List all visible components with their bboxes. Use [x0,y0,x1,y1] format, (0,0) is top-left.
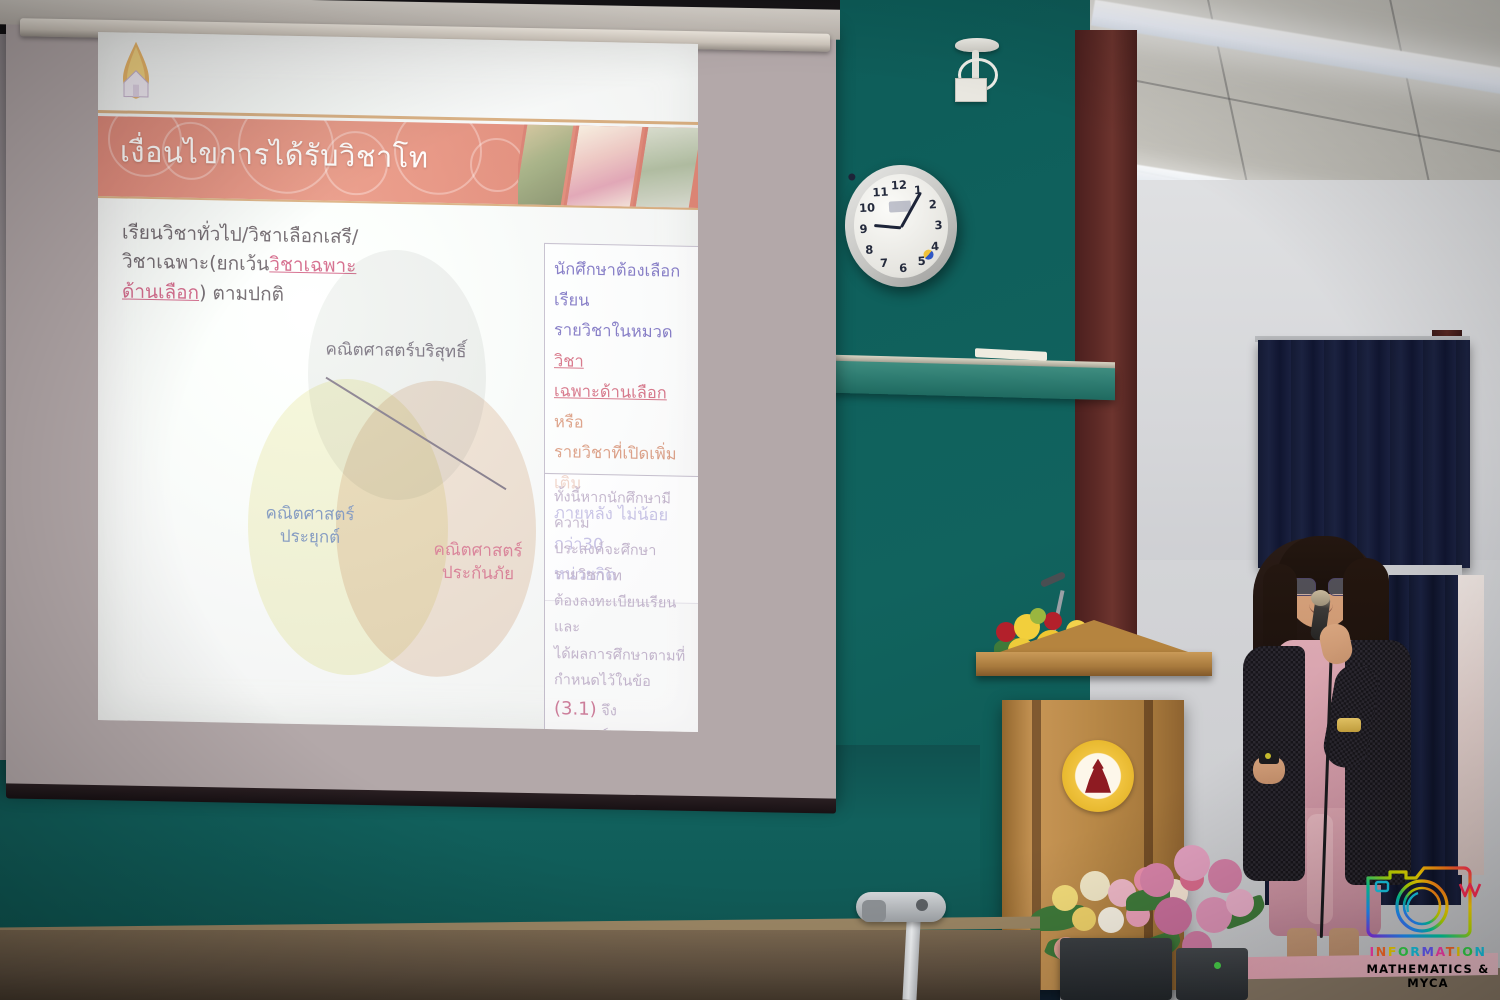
clock-center-pin [848,173,855,180]
podium-roof [994,620,1194,654]
clock-num-7: 7 [876,256,893,271]
microphone-head [1311,590,1330,606]
university-emblem [1062,740,1134,812]
venn-label-right-l2: ประกันภัย [408,561,548,587]
projector-lens-icon [862,900,886,922]
photo-watermark: INFORMATION MATHEMATICS & MYCA [1358,852,1498,1000]
para-line1: เรียนวิชาทั่วไป/วิชาเลือกเสรี/ [122,221,358,248]
podium-shelf [976,652,1212,676]
venn-label-top: คณิตศาสตร์บริสุทธิ์ [286,338,506,365]
venn-label-left: คณิตศาสตร์ ประยุกต์ [240,502,380,551]
note2-l5b: จึง [601,703,617,719]
av-equipment-case [1060,938,1172,1000]
camera-outline-rainbow-icon [1364,856,1492,942]
wall-junction-box [955,78,987,102]
slide-note-box-2: ทั้งนี้หากนักศึกษามีความ ประสงค์จะศึกษาร… [544,473,698,732]
kku-flame-logo-icon [116,40,156,103]
stage-floor [0,930,1040,1000]
venn-label-left-l2: ประยุกต์ [240,525,380,551]
presentation-room-photo: เงื่อนไขการได้รับวิชาโท เรียนวิชาทั่วไป/… [0,0,1500,1000]
note2-l1: ทั้งนี้หากนักศึกษามีความ [554,484,694,539]
clock-num-12: 12 [891,178,908,193]
projected-slide: เงื่อนไขการได้รับวิชาโท เรียนวิชาทั่วไป/… [98,32,698,732]
slide-title: เงื่อนไขการได้รับวิชาโท [120,128,429,180]
venn-label-right: คณิตศาสตร์ ประกันภัย [408,538,548,587]
av-equipment-case-2 [1176,948,1248,1000]
note2-l5a: กำหนดไว้ในข้อ [554,672,651,690]
clock-decal-icon [923,249,934,260]
podium-top [976,620,1212,674]
note1-l2-highlight: วิชา [554,351,584,371]
equipment-power-led-icon [1214,962,1221,969]
clock-num-11: 11 [872,184,889,199]
venn-label-left-l1: คณิตศาสตร์ [240,502,380,528]
note2-clause-ref: (3.1) [554,698,597,720]
note1-l2a: รายวิชาในหมวด [554,320,673,341]
note2-l4: ได้ผลการศึกษาตามที่ [554,641,694,670]
window-daylight [1458,575,1484,875]
para-line3-highlight: ด้านเลือก [122,280,199,304]
clock-num-10: 10 [859,201,876,216]
clock-face: 12 1 2 3 4 5 6 7 8 9 10 11 [851,172,950,281]
clock-num-3: 3 [930,218,947,233]
clock-num-6: 6 [895,260,912,275]
red-column [1075,30,1137,670]
venn-diagram: คณิตศาสตร์บริสุทธิ์ คณิตศาสตร์ ประยุกต์ … [248,247,538,683]
note2-l2: ประสงค์จะศึกษารายวิชาโท [554,536,694,591]
slide-header-photos [518,124,698,208]
clock-hour-hand [874,224,901,230]
note1-l3b: หรือ [554,412,584,432]
note2-l3: ต้องลงทะเบียนเรียนและ [554,589,694,644]
clicker-button-icon[interactable] [1265,753,1271,759]
clock-num-8: 8 [861,242,878,257]
venn-label-right-l1: คณิตศาสตร์ [408,538,548,564]
wristwatch [1337,718,1361,732]
watermark-line-2: MATHEMATICS & MYCA [1358,962,1498,990]
header-photo-3 [633,127,698,208]
note1-l1: นักศึกษาต้องเลือกเรียน [554,254,694,318]
clock-num-2: 2 [924,197,941,212]
header-photo-2 [563,126,642,207]
note1-l3-highlight: เฉพาะด้านเลือก [554,381,667,402]
clock-num-9: 9 [855,222,872,237]
watermark-line-1: INFORMATION [1358,944,1498,959]
projector-knob [916,899,928,911]
